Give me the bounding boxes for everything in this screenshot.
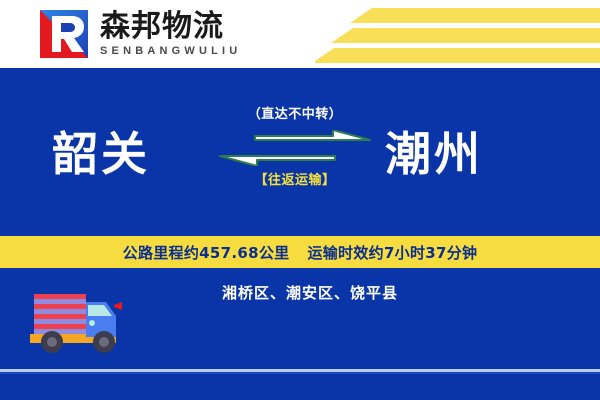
roundtrip-note: 【往返运输】 (215, 174, 375, 187)
direct-service-note: （直达不中转） (215, 108, 375, 121)
route-section: 韶关 （直达不中转） 【往返运输】 潮州 (0, 68, 600, 236)
delivery-truck-icon (18, 288, 130, 360)
route-info-text: 公路里程约457.68公里运输时效约7小时37分钟 (123, 242, 478, 263)
brand-name-cn: 森邦物流 (100, 11, 241, 43)
logistics-route-banner: 森邦物流 SENBANGWULIU 韶关 （直达不中转） 【往返运输】 潮州 公… (0, 0, 600, 400)
brand-name-en: SENBANGWULIU (100, 45, 241, 57)
brand-text: 森邦物流 SENBANGWULIU (100, 11, 241, 58)
route-info-bar: 公路里程约457.68公里运输时效约7小时37分钟 (0, 236, 600, 268)
distance-value: 公路里程约457.68公里 (123, 244, 290, 262)
decorative-stripes (315, 0, 600, 68)
senbang-r-logo-icon (34, 8, 90, 60)
destination-city: 潮州 (385, 118, 483, 184)
bottom-divider-shadow (0, 372, 600, 374)
brand-logo[interactable]: 森邦物流 SENBANGWULIU (34, 8, 241, 60)
bidirectional-arrow-icon (215, 130, 375, 166)
stripe-2 (331, 28, 600, 43)
stripe-3 (315, 48, 600, 63)
route-middle-group: （直达不中转） 【往返运输】 (215, 108, 375, 187)
header-bar: 森邦物流 SENBANGWULIU (0, 0, 600, 68)
origin-city: 韶关 (52, 118, 150, 184)
stripe-1 (350, 8, 600, 23)
duration-value: 运输时效约7小时37分钟 (307, 244, 477, 262)
